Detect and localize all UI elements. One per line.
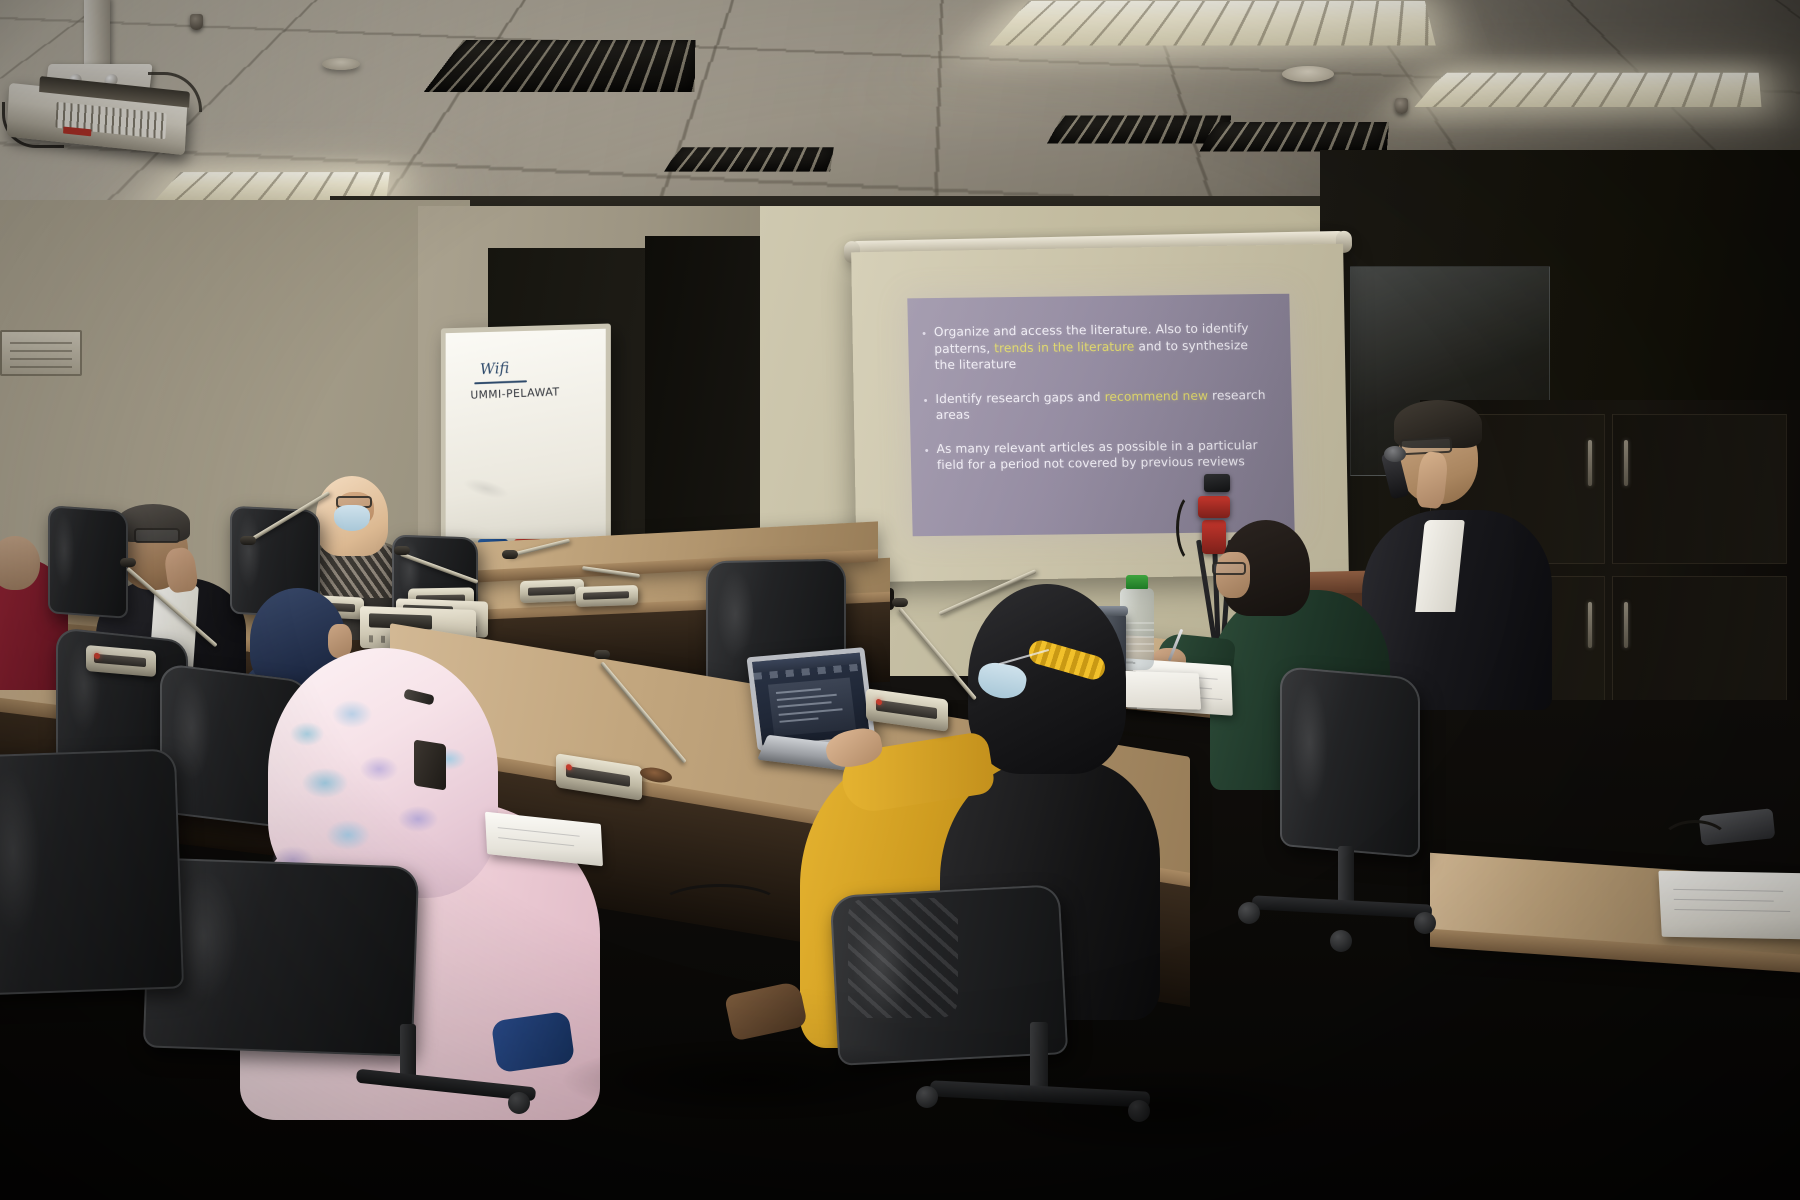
chair-mesh-texture <box>848 898 958 1018</box>
microphone-head <box>892 598 908 607</box>
chair-caster <box>1414 912 1436 934</box>
slide-bullet-3: • As many relevant articles as possible … <box>925 436 1274 473</box>
chair-caster <box>508 1092 530 1114</box>
eyeglasses <box>1212 562 1246 575</box>
floor-shadow <box>980 1070 1340 1150</box>
projected-slide: • Organize and access the literature. Al… <box>907 294 1294 537</box>
wall-control-panel <box>0 330 82 376</box>
flipchart-paper <box>446 329 606 544</box>
cabinet-handle[interactable] <box>1624 440 1628 486</box>
floral-motif <box>290 722 324 746</box>
cable <box>1660 820 1730 866</box>
paper-document <box>1658 871 1800 940</box>
microphone-head <box>594 650 610 659</box>
smoke-detector-icon <box>1282 66 1334 82</box>
smoke-detector-icon <box>322 58 360 70</box>
cabinet-door[interactable] <box>1612 414 1787 564</box>
projector-mount-pole <box>84 0 110 70</box>
floor-cable <box>660 884 780 924</box>
chair-post <box>1338 846 1354 906</box>
cabinet-handle[interactable] <box>1624 602 1628 648</box>
chair-caster <box>1238 902 1260 924</box>
microphone-head <box>120 558 136 567</box>
office-chair[interactable] <box>48 505 128 619</box>
desk-equipment <box>414 739 446 790</box>
slide-bullet-1-text: Organize and access the literature. Also… <box>934 320 1271 374</box>
floral-motif <box>360 756 398 782</box>
sprinkler-head-icon <box>190 14 203 30</box>
office-chair[interactable] <box>1280 666 1420 858</box>
cabinet-handle[interactable] <box>1588 440 1592 486</box>
bullet-point-icon: • <box>922 324 926 342</box>
flipchart-whiteboard: Wifi UMMI-PELAWAT <box>441 323 611 548</box>
hvac-vent <box>424 40 696 92</box>
face-mask <box>334 505 370 531</box>
bullet-point-icon: • <box>925 441 929 459</box>
cabinet-handle[interactable] <box>1588 602 1592 648</box>
floral-motif <box>302 768 348 798</box>
microphone-head <box>1384 446 1406 462</box>
whiteboard-heading: Wifi <box>480 359 510 378</box>
microphone-head <box>240 536 256 545</box>
camera-icon[interactable] <box>1204 474 1230 492</box>
microphone-head <box>394 546 410 555</box>
chair-caster <box>1330 930 1352 952</box>
ceiling-light-fixture <box>1414 73 1761 107</box>
conference-microphone-base[interactable] <box>520 579 584 603</box>
floor-shadow <box>560 1040 940 1120</box>
face-profile <box>1216 552 1250 598</box>
slide-bullet-3-text: As many relevant articles as possible in… <box>936 436 1273 473</box>
seminar-room-photo: • Organize and access the literature. Al… <box>0 0 1800 1200</box>
bullet-point-icon: • <box>923 391 927 409</box>
conference-microphone-base[interactable] <box>576 585 638 607</box>
camera-cable <box>1176 492 1212 564</box>
slide-bullet-2: • Identify research gaps and recommend n… <box>923 386 1272 423</box>
floral-motif <box>326 820 370 850</box>
office-chair[interactable] <box>0 748 184 995</box>
ceiling-light-fixture <box>989 1 1435 45</box>
slide-bullet-2-text: Identify research gaps and recommend new… <box>935 386 1272 423</box>
bag-on-floor <box>491 1011 575 1073</box>
hvac-vent <box>664 147 834 171</box>
floral-motif <box>332 700 372 728</box>
microphone-head <box>502 550 518 559</box>
slide-bullet-1: • Organize and access the literature. Al… <box>922 320 1271 374</box>
eyeglasses <box>134 528 180 543</box>
hvac-vent <box>1047 115 1231 143</box>
office-chair[interactable] <box>143 857 419 1056</box>
hvac-vent <box>1199 122 1389 151</box>
floral-motif <box>398 806 438 832</box>
sprinkler-head-icon <box>1395 98 1408 114</box>
